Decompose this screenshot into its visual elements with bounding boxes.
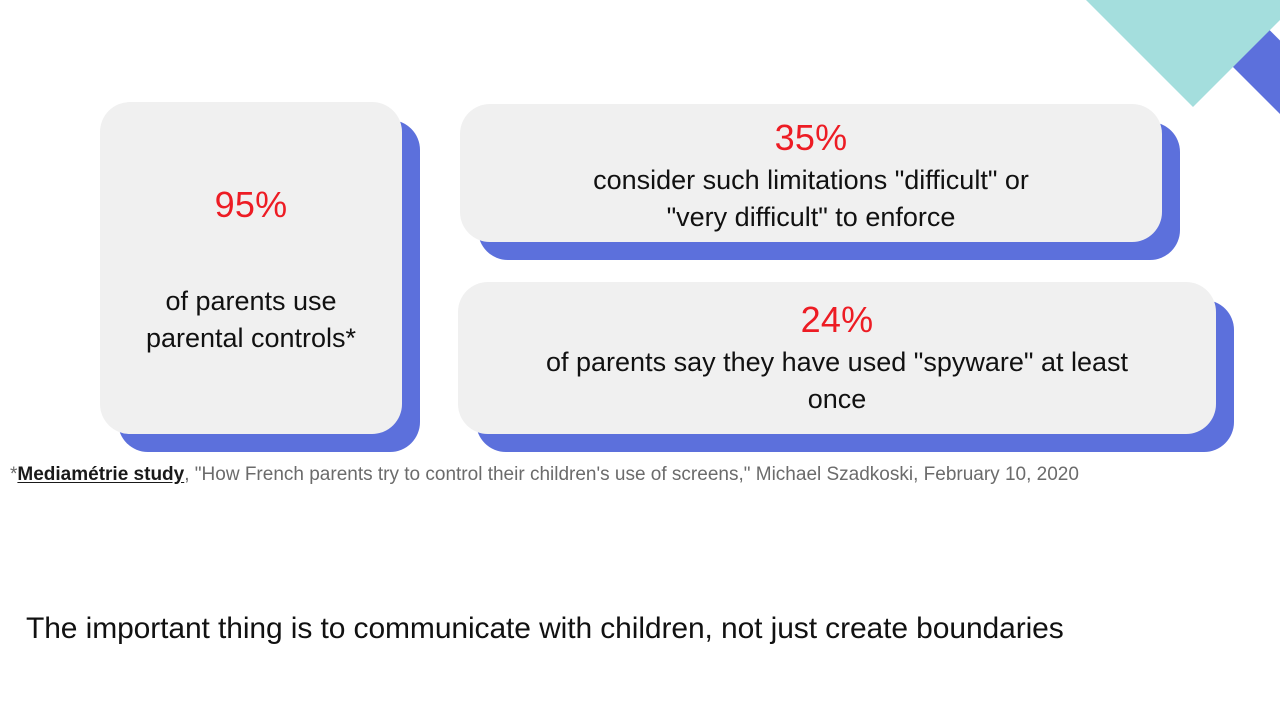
closing-statement: The important thing is to communicate wi… bbox=[26, 609, 1146, 648]
stat-card-spyware-usage: 24% of parents say they have used "spywa… bbox=[458, 282, 1216, 434]
card-face: 35% consider such limitations "difficult… bbox=[460, 104, 1162, 242]
card-face: 24% of parents say they have used "spywa… bbox=[458, 282, 1216, 434]
footnote: *Mediamétrie study, "How French parents … bbox=[10, 462, 1079, 488]
stat-percentage: 35% bbox=[775, 118, 848, 158]
stat-description: consider such limitations "difficult" or… bbox=[593, 162, 1029, 237]
stat-card-parental-controls: 95% of parents use parental controls* bbox=[100, 102, 402, 434]
stat-percentage: 95% bbox=[215, 185, 288, 225]
card-face: 95% of parents use parental controls* bbox=[100, 102, 402, 434]
stat-percentage: 24% bbox=[801, 300, 874, 340]
stat-description: of parents use parental controls* bbox=[146, 283, 356, 358]
teal-triangle-decoration bbox=[1086, 0, 1280, 107]
stat-card-difficult-to-enforce: 35% consider such limitations "difficult… bbox=[460, 104, 1162, 242]
stat-description: of parents say they have used "spyware" … bbox=[546, 344, 1128, 419]
footnote-source-link[interactable]: Mediamétrie study bbox=[17, 464, 184, 485]
slide-canvas: 95% of parents use parental controls* 35… bbox=[0, 0, 1280, 720]
footnote-citation-text: , "How French parents try to control the… bbox=[184, 464, 1079, 485]
